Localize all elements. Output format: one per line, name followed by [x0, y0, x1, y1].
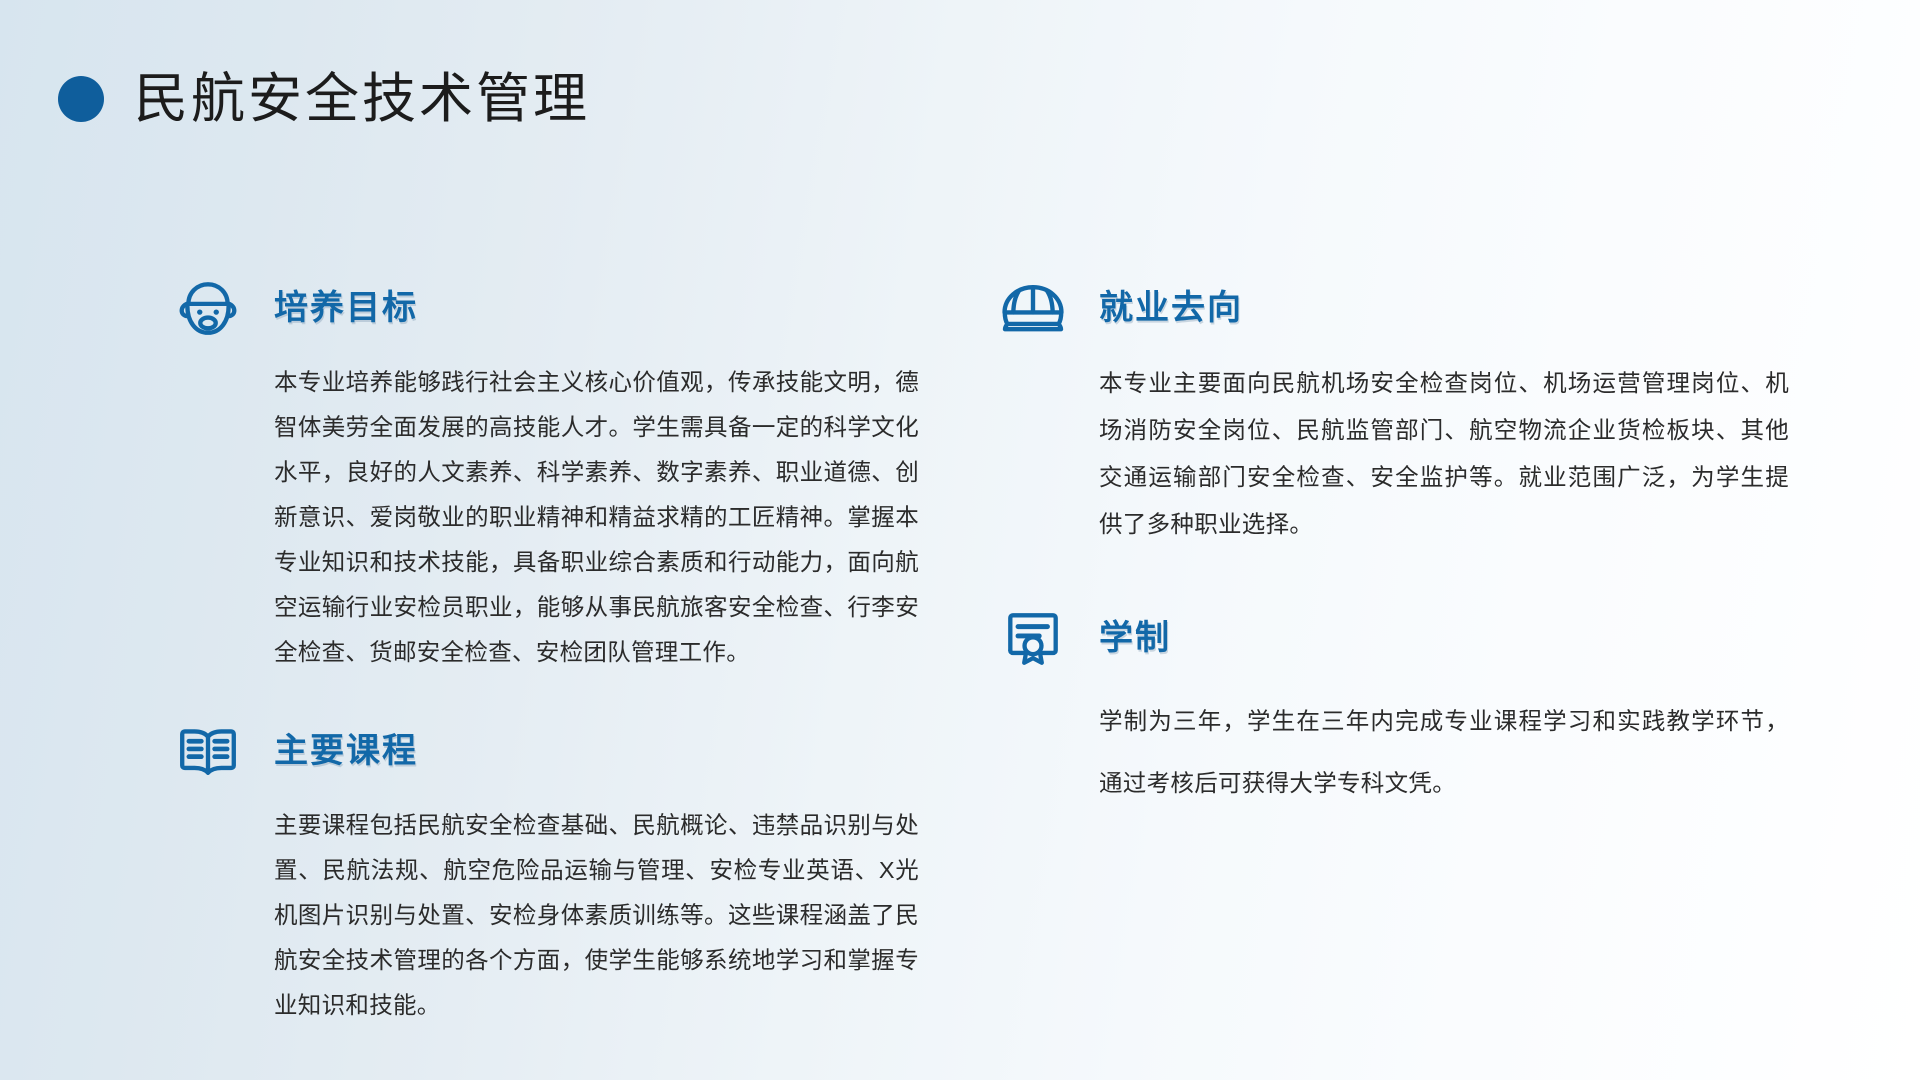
block-header: 学制 [995, 600, 1825, 676]
block-body-text: 主要课程包括民航安全检查基础、民航概论、违禁品识别与处置、民航法规、航空危险品运… [274, 803, 919, 1028]
slide-root: 民航安全技术管理 [0, 0, 1920, 1080]
open-book-icon [170, 713, 246, 789]
block-body-text: 本专业培养能够践行社会主义核心价值观，传承技能文明，德智体美劳全面发展的高技能人… [274, 360, 919, 675]
block-employment-direction: 就业去向 本专业主要面向民航机场安全检查岗位、机场运营管理岗位、机场消防安全岗位… [995, 270, 1825, 548]
block-heading-text: 主要课程 [274, 734, 418, 768]
left-column: 培养目标 本专业培养能够践行社会主义核心价值观，传承技能文明，德智体美劳全面发展… [170, 270, 980, 1028]
block-heading-text: 学制 [1099, 621, 1171, 655]
block-main-courses: 主要课程 主要课程包括民航安全检查基础、民航概论、违禁品识别与处置、民航法规、航… [170, 713, 980, 1028]
block-body-text: 学制为三年，学生在三年内完成专业课程学习和实践教学环节，通过考核后可获得大学专科… [1099, 690, 1789, 814]
right-column: 就业去向 本专业主要面向民航机场安全检查岗位、机场运营管理岗位、机场消防安全岗位… [995, 270, 1825, 814]
block-header: 就业去向 [995, 270, 1825, 346]
block-header: 培养目标 [170, 270, 980, 346]
block-training-objective: 培养目标 本专业培养能够践行社会主义核心价值观，传承技能文明，德智体美劳全面发展… [170, 270, 980, 675]
block-body-text: 本专业主要面向民航机场安全检查岗位、机场运营管理岗位、机场消防安全岗位、民航监管… [1099, 360, 1789, 548]
block-heading-text: 培养目标 [274, 291, 418, 325]
certificate-seal-icon [995, 600, 1071, 676]
block-study-duration: 学制 学制为三年，学生在三年内完成专业课程学习和实践教学环节，通过考核后可获得大… [995, 600, 1825, 814]
block-heading-text: 就业去向 [1099, 291, 1243, 325]
block-header: 主要课程 [170, 713, 980, 789]
uniform-cap-icon [995, 270, 1071, 346]
content-columns: 培养目标 本专业培养能够践行社会主义核心价值观，传承技能文明，德智体美劳全面发展… [0, 0, 1920, 1080]
worker-helmet-icon [170, 270, 246, 346]
